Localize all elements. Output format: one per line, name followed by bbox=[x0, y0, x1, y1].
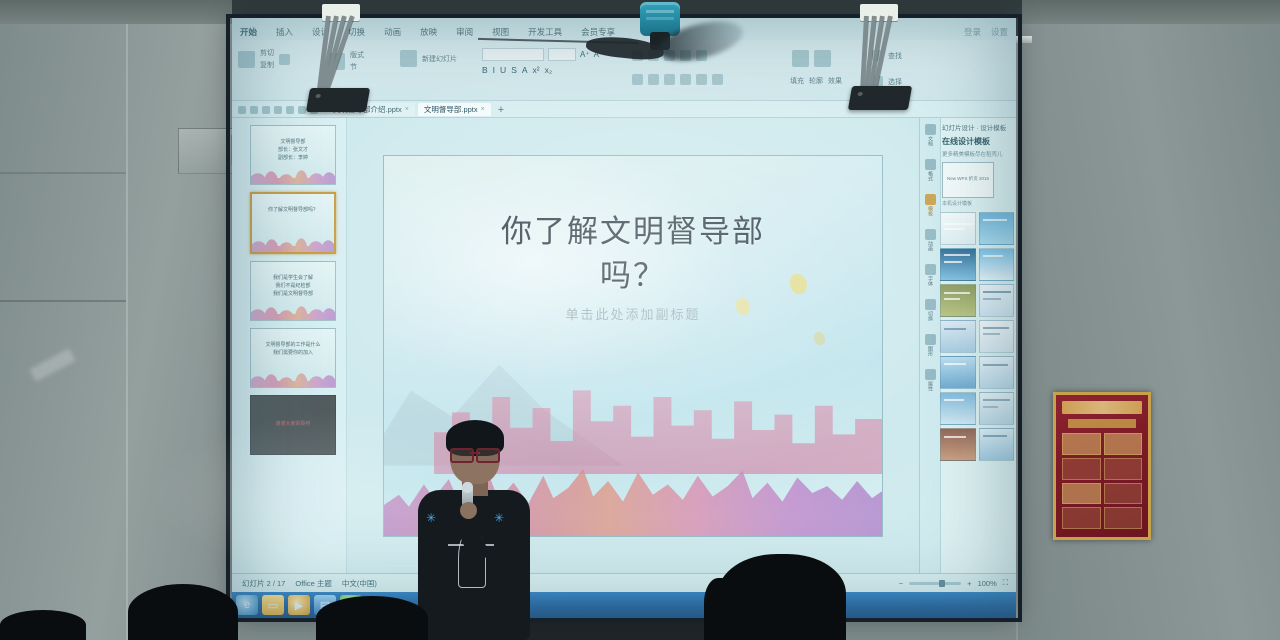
superscript-icon[interactable]: x² bbox=[533, 65, 540, 75]
transition-icon bbox=[925, 299, 936, 310]
media-player-icon[interactable]: ▶ bbox=[288, 595, 310, 615]
slide-subtitle-placeholder[interactable]: 单击此处添加副标题 bbox=[384, 304, 882, 323]
fill-label[interactable]: 填充 bbox=[790, 76, 804, 86]
document-tab-2-label: 文明督导部.pptx bbox=[424, 104, 478, 115]
rail-item-animation[interactable]: 动画 bbox=[925, 229, 936, 251]
shapes-icon[interactable] bbox=[792, 50, 809, 67]
bold-icon[interactable]: B bbox=[482, 65, 488, 75]
template-thumb[interactable] bbox=[979, 356, 1015, 389]
zoom-in-button[interactable]: + bbox=[967, 579, 971, 588]
thumb-4-sub1: 我们需要你的加入 bbox=[255, 349, 331, 357]
audience-head-right bbox=[718, 554, 846, 640]
menu-item-slideshow[interactable]: 放映 bbox=[420, 26, 437, 38]
hanging-fluorescent-lamp-right bbox=[846, 4, 912, 108]
italic-icon[interactable]: I bbox=[493, 65, 495, 75]
template-thumb[interactable] bbox=[940, 248, 976, 281]
wall-scuff bbox=[29, 348, 75, 381]
ribbon-group-drawing-labels: 填充 轮廓 效果 bbox=[790, 76, 842, 86]
thumb-3-title: 我们是学生会了解 bbox=[255, 274, 331, 282]
classroom-scene: 开始 插入 设计 切换 动画 放映 审阅 视图 开发工具 会员专享 登录 设置 bbox=[0, 0, 1280, 640]
ceiling-fan bbox=[598, 0, 718, 96]
strikethrough-icon[interactable]: S bbox=[511, 65, 517, 75]
template-thumb[interactable] bbox=[979, 284, 1015, 317]
template-thumb[interactable] bbox=[940, 284, 976, 317]
new-tab-button[interactable]: + bbox=[498, 104, 504, 116]
menu-item-animation[interactable]: 动画 bbox=[384, 26, 401, 38]
thumb-3-sub1: 我们不是纪检部 bbox=[255, 282, 331, 290]
template-thumb[interactable] bbox=[940, 212, 976, 245]
rail-item-template[interactable]: 模板 bbox=[925, 194, 936, 216]
thumb-1-sub1: 部长：张文才 bbox=[255, 146, 331, 154]
template-thumb[interactable] bbox=[940, 428, 976, 461]
thumb-4-title: 文明督导部的工作是什么 bbox=[255, 341, 331, 349]
close-icon[interactable]: × bbox=[481, 106, 485, 113]
template-icon bbox=[925, 194, 936, 205]
tshirt-star-right: ✳ bbox=[494, 512, 506, 524]
wall-seam bbox=[0, 300, 126, 302]
slide-thumbnail-1[interactable]: 文明督导部 部长：张文才 副部长：李婷 bbox=[250, 125, 336, 185]
fit-window-icon[interactable]: ⛶ bbox=[1003, 578, 1008, 588]
slide-thumbnail-pane[interactable]: 文明督导部 部长：张文才 副部长：李婷 你了解文明督导部吗？ 我们是学生会了解 bbox=[232, 118, 347, 574]
rail-label-shapes: 图形 bbox=[927, 346, 933, 356]
preview-icon[interactable] bbox=[262, 106, 270, 114]
font-grow-icon[interactable]: A⁺ bbox=[580, 50, 590, 59]
effects-label[interactable]: 效果 bbox=[828, 76, 842, 86]
format-painter-icon[interactable] bbox=[279, 54, 290, 65]
thumb-crowd-art bbox=[251, 371, 335, 387]
new-slide-label[interactable]: 新建幻灯片 bbox=[422, 54, 457, 64]
cloud-icon[interactable] bbox=[274, 106, 282, 114]
wall-left bbox=[0, 0, 232, 640]
slide-title-line1: 你了解文明督导部 bbox=[384, 210, 882, 254]
design-pane-rail: 文档 格式 模板 动画 bbox=[920, 118, 941, 574]
wall-seam-right bbox=[1016, 0, 1018, 640]
poster-sub-band bbox=[1068, 419, 1136, 428]
shapes-rail-icon bbox=[925, 334, 936, 345]
ribbon-group-textbox: 新建幻灯片 bbox=[400, 50, 457, 67]
menu-item-view[interactable]: 视图 bbox=[492, 26, 509, 38]
thumb-1-title: 文明督导部 bbox=[255, 138, 331, 146]
design-preview-card[interactable]: New WPS 折页 2016 bbox=[942, 162, 994, 198]
design-preview-label: New WPS 折页 2016 bbox=[943, 176, 993, 182]
save-icon[interactable] bbox=[238, 106, 246, 114]
thumb-crowd-art bbox=[251, 304, 335, 320]
rail-item-properties[interactable]: 属性 bbox=[925, 369, 936, 391]
rail-item-transition[interactable]: 切换 bbox=[925, 299, 936, 321]
zoom-slider[interactable] bbox=[909, 582, 961, 585]
slide-thumbnail-5[interactable]: 谢谢大家的聆听 bbox=[250, 395, 336, 455]
slide-thumbnail-3[interactable]: 我们是学生会了解 我们不是纪检部 我们是文明督导部 bbox=[250, 261, 336, 321]
print-icon[interactable] bbox=[250, 106, 258, 114]
copy-label[interactable]: 复制 bbox=[260, 60, 274, 70]
wall-poster-red bbox=[1053, 392, 1151, 540]
wall-right bbox=[1016, 0, 1280, 640]
rail-item-font[interactable]: 字体 bbox=[925, 264, 936, 286]
presenter-glasses bbox=[450, 448, 500, 459]
animation-icon bbox=[925, 229, 936, 240]
template-thumb[interactable] bbox=[940, 320, 976, 353]
audience-head-left-2 bbox=[316, 596, 428, 640]
presenter-with-microphone: ✳ ✳ bbox=[412, 424, 530, 640]
confetti-3 bbox=[814, 332, 825, 345]
rail-label-template: 模板 bbox=[927, 206, 933, 216]
audience-head-left bbox=[128, 584, 238, 640]
slide-title-line2: 吗？ bbox=[384, 254, 882, 298]
tshirt-star-left: ✳ bbox=[426, 512, 438, 524]
slide-thumbnail-2[interactable]: 你了解文明督导部吗？ bbox=[250, 192, 336, 254]
language-label[interactable]: 中文(中国) bbox=[342, 578, 377, 589]
thumb-3-sub2: 我们是文明督导部 bbox=[255, 290, 331, 298]
file-explorer-icon[interactable]: ▭ bbox=[262, 595, 284, 615]
design-template-pane[interactable]: 文档 格式 模板 动画 bbox=[919, 118, 1016, 574]
rail-label-transition: 切换 bbox=[927, 311, 933, 321]
text-color-icon[interactable]: A bbox=[522, 65, 528, 75]
rail-label-format: 格式 bbox=[927, 171, 933, 181]
design-pane-subtitle: 更多精美模板尽在稻壳儿 bbox=[942, 150, 1003, 158]
design-pane-title: 在线设计模板 bbox=[942, 136, 990, 147]
ribbon-group-font: A⁺ A⁻ B I U S A x² x₂ bbox=[482, 48, 603, 75]
lamp-shade bbox=[848, 86, 912, 110]
thumb-crowd-art bbox=[251, 168, 335, 184]
presenter-hand bbox=[460, 502, 477, 519]
lamp-shade bbox=[306, 88, 370, 112]
theme-label[interactable]: Office 主题 bbox=[295, 578, 332, 589]
ribbon-group-clipboard: 剪切 复制 bbox=[238, 48, 290, 70]
rail-item-shapes[interactable]: 图形 bbox=[925, 334, 936, 356]
rail-label-font: 字体 bbox=[927, 276, 933, 286]
format-icon bbox=[925, 159, 936, 170]
menu-item-insert[interactable]: 插入 bbox=[276, 26, 293, 38]
template-thumb[interactable] bbox=[979, 212, 1015, 245]
design-template-grid[interactable] bbox=[940, 212, 1014, 572]
audience-head-far-left bbox=[0, 610, 86, 640]
share-icon[interactable] bbox=[286, 106, 294, 114]
font-size-input[interactable] bbox=[548, 48, 576, 61]
thumb-2-title: 你了解文明督导部吗？ bbox=[256, 206, 330, 214]
wall-junction-box bbox=[178, 128, 235, 174]
zoom-out-button[interactable]: − bbox=[899, 579, 903, 588]
underline-icon[interactable]: U bbox=[500, 65, 506, 75]
poster-grid bbox=[1062, 433, 1142, 529]
rail-label-document: 文档 bbox=[927, 136, 933, 146]
outline-label[interactable]: 轮廓 bbox=[809, 76, 823, 86]
poster-title-band bbox=[1062, 401, 1142, 414]
rail-label-animation: 动画 bbox=[927, 241, 933, 251]
template-thumb[interactable] bbox=[979, 428, 1015, 461]
document-icon bbox=[925, 124, 936, 135]
font-icon bbox=[925, 264, 936, 275]
template-thumb[interactable] bbox=[940, 392, 976, 425]
subscript-icon[interactable]: x₂ bbox=[545, 65, 553, 75]
template-thumb[interactable] bbox=[979, 392, 1015, 425]
internet-explorer-icon[interactable]: e bbox=[236, 595, 258, 615]
rail-label-properties: 属性 bbox=[927, 381, 933, 391]
zoom-level-label[interactable]: 100% bbox=[978, 579, 997, 588]
template-thumb[interactable] bbox=[979, 320, 1015, 353]
template-thumb[interactable] bbox=[979, 248, 1015, 281]
menu-item-developer[interactable]: 开发工具 bbox=[528, 26, 562, 38]
rail-item-format[interactable]: 格式 bbox=[925, 159, 936, 181]
cut-label[interactable]: 剪切 bbox=[260, 48, 274, 58]
textbox-icon[interactable] bbox=[400, 50, 417, 67]
thumb-1-sub2: 副部长：李婷 bbox=[255, 154, 331, 162]
close-icon[interactable]: × bbox=[405, 106, 409, 113]
font-name-input[interactable] bbox=[482, 48, 544, 61]
thumb-crowd-art bbox=[252, 236, 334, 252]
properties-icon bbox=[925, 369, 936, 380]
rail-item-document[interactable]: 文档 bbox=[925, 124, 936, 146]
hanging-fluorescent-lamp-left bbox=[308, 4, 374, 108]
menu-item-signin[interactable]: 登录 bbox=[964, 26, 981, 38]
slide-counter: 幻灯片 2 / 17 bbox=[242, 578, 285, 589]
undo-icon[interactable] bbox=[298, 106, 306, 114]
slide-title[interactable]: 你了解文明督导部 吗？ bbox=[384, 210, 882, 298]
menu-item-start[interactable]: 开始 bbox=[240, 26, 257, 38]
menu-item-review[interactable]: 审阅 bbox=[456, 26, 473, 38]
document-tab-2[interactable]: 文明督导部.pptx × bbox=[418, 103, 491, 116]
design-pane-breadcrumb: 幻灯片设计 · 设计模板 bbox=[942, 122, 1013, 132]
wall-seam-upper bbox=[0, 172, 126, 174]
status-bar: 幻灯片 2 / 17 Office 主题 中文(中国) − + 100% ⛶ bbox=[232, 573, 1016, 592]
ribbon-group-drawing bbox=[792, 50, 831, 67]
arrange-icon[interactable] bbox=[814, 50, 831, 67]
menu-item-settings[interactable]: 设置 bbox=[991, 26, 1008, 38]
thumb-5-title: 谢谢大家的聆听 bbox=[255, 420, 331, 428]
design-section-caption: 本机设计模板 bbox=[942, 200, 972, 207]
slide-thumbnail-4[interactable]: 文明督导部的工作是什么 我们需要你的加入 bbox=[250, 328, 336, 388]
fan-motor-housing bbox=[640, 2, 680, 36]
paste-icon[interactable] bbox=[238, 51, 255, 68]
template-thumb[interactable] bbox=[940, 356, 976, 389]
